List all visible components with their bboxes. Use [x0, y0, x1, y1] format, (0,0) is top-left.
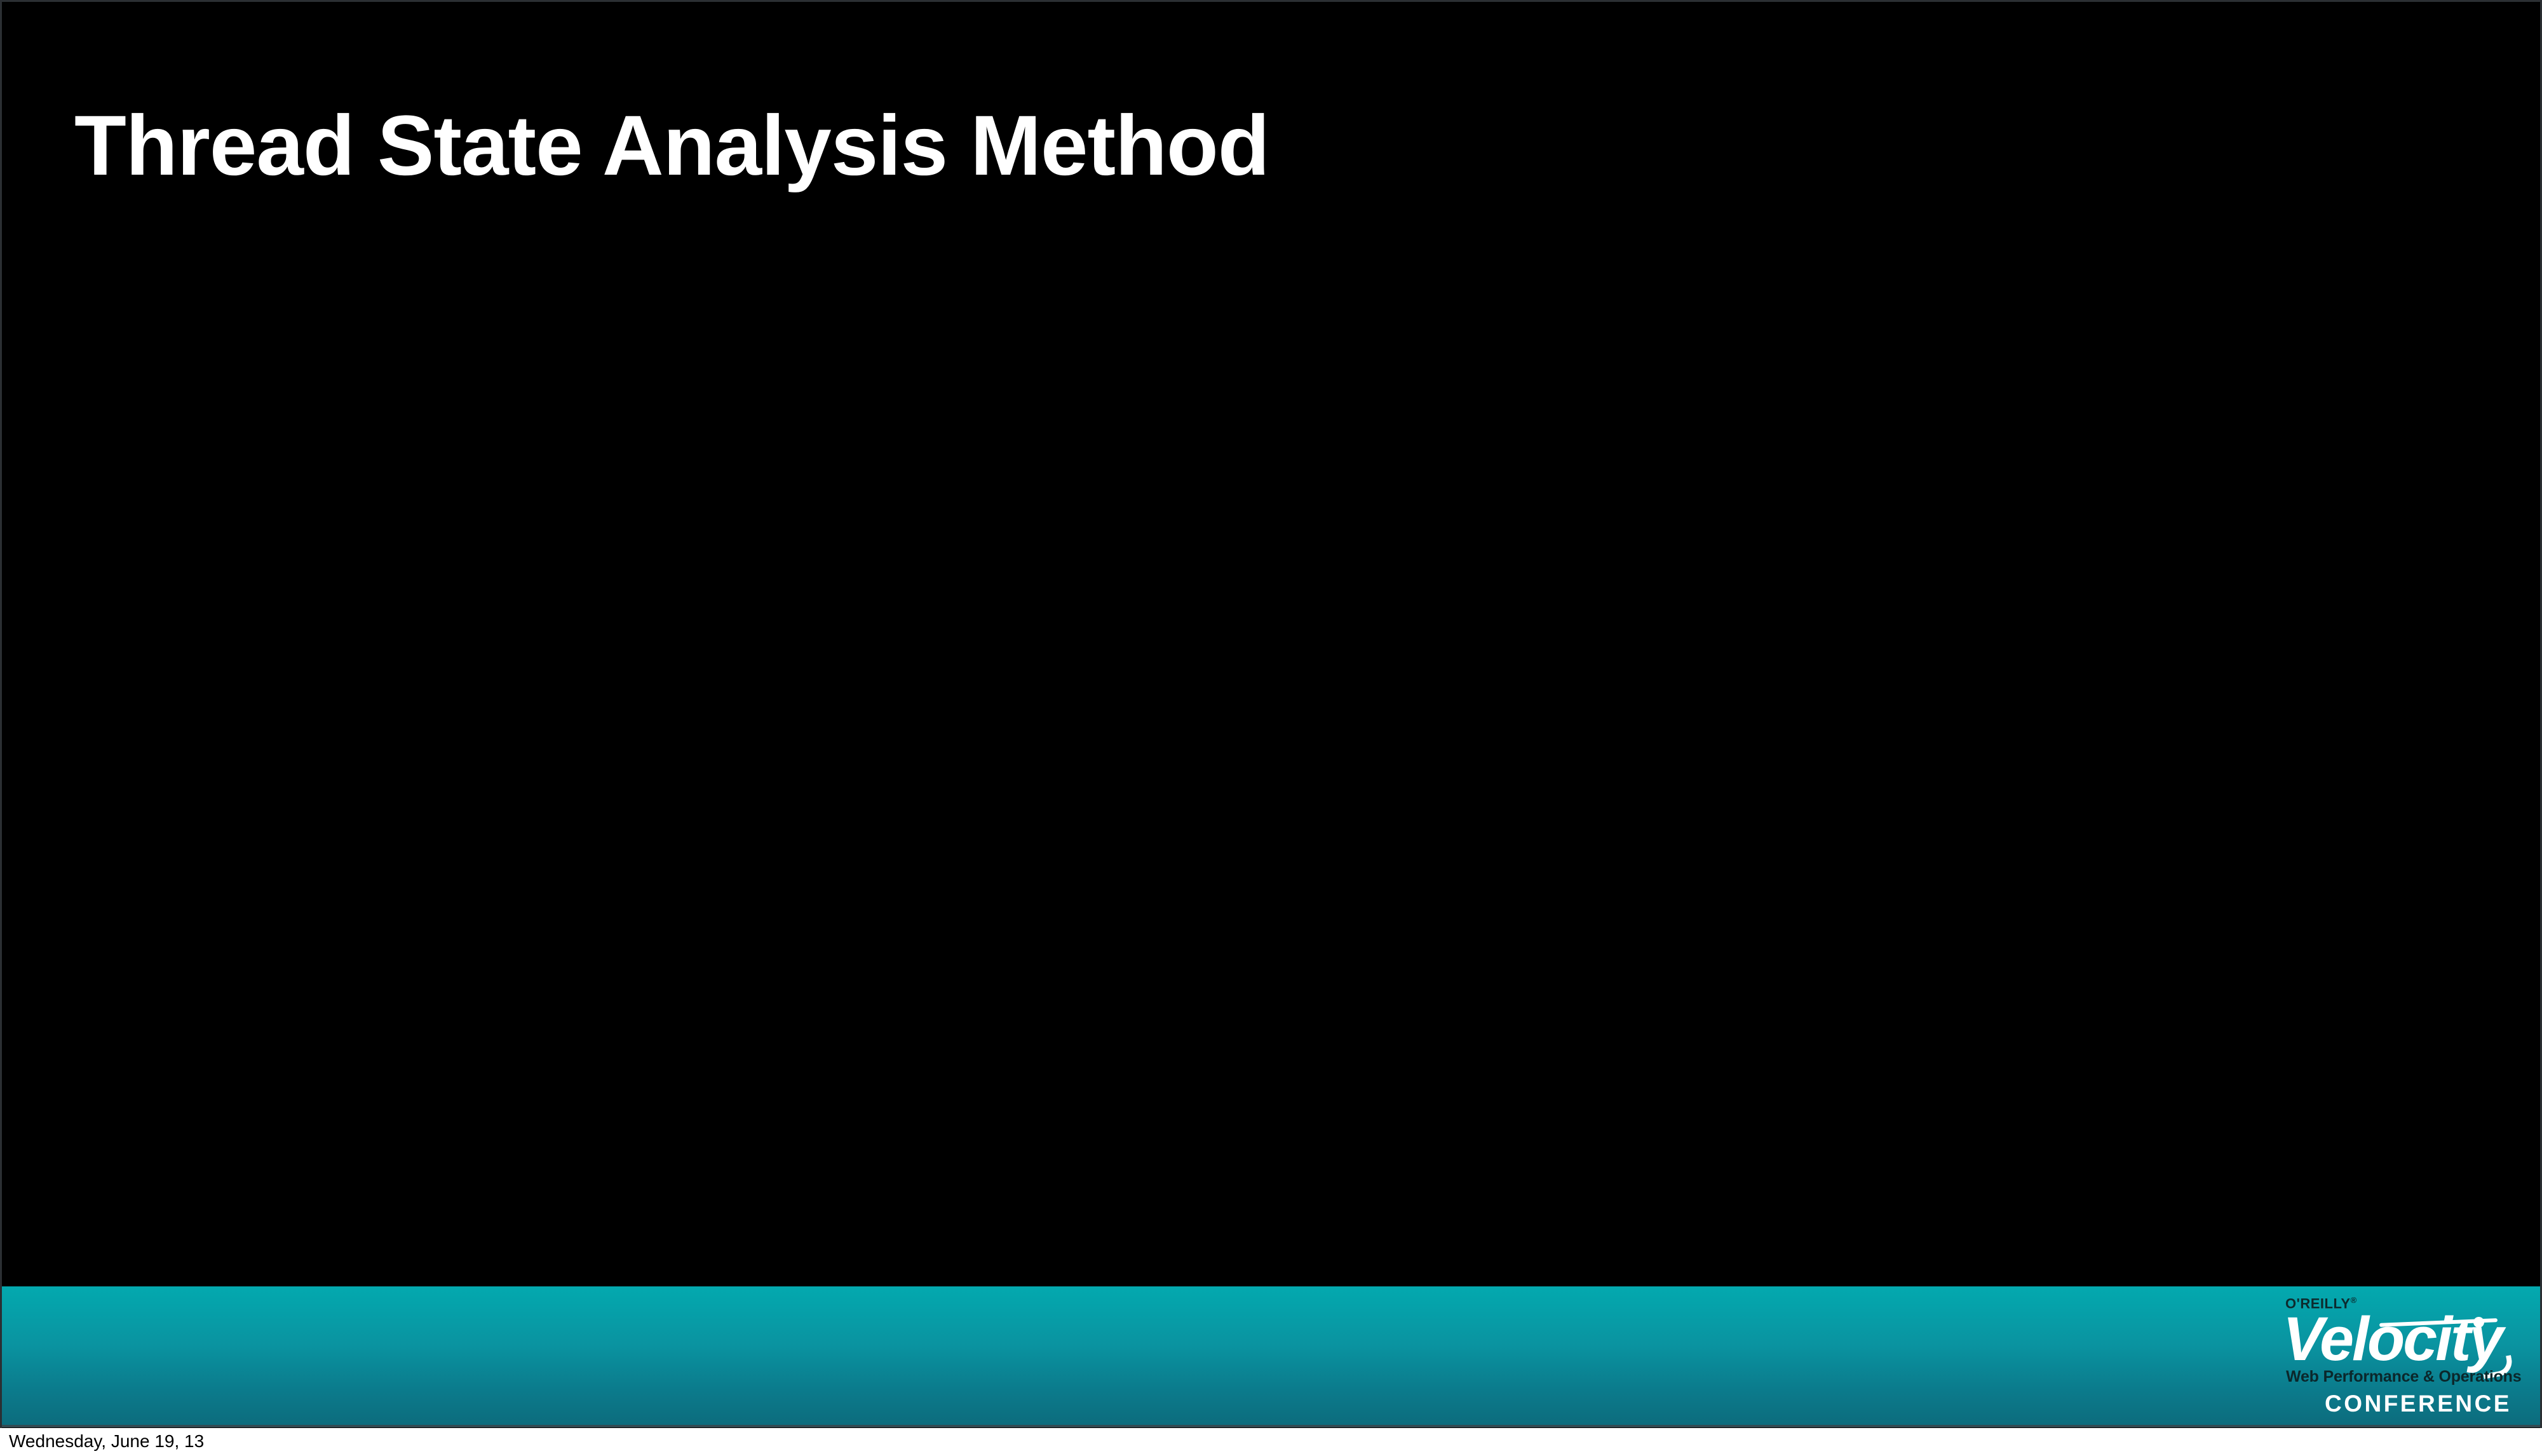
- swoosh-dot-icon: [2473, 1317, 2484, 1328]
- brand-band: O'REILLY® Velocity Web Performance & Ope…: [2, 1286, 2540, 1427]
- logo-tagline: Web Performance & Operations: [2286, 1368, 2521, 1386]
- velocity-wordmark: Velocity: [2283, 1308, 2501, 1370]
- brand-band-baseline-divider: [2, 1425, 2540, 1427]
- logo-event-type: CONFERENCE: [2325, 1391, 2512, 1417]
- slide-canvas: Thread State Analysis Method: [0, 0, 2542, 1428]
- presentation-slide: Thread State Analysis Method O'REILLY® V…: [0, 0, 2542, 1456]
- slide-content-area: [74, 186, 2463, 1266]
- page-footer: Wednesday, June 19, 13: [0, 1428, 2542, 1456]
- velocity-wordmark-group: Velocity: [2283, 1308, 2512, 1374]
- velocity-conference-logo: O'REILLY® Velocity Web Performance & Ope…: [2283, 1295, 2512, 1422]
- registered-trademark-icon: ®: [2351, 1295, 2357, 1305]
- footer-date: Wednesday, June 19, 13: [9, 1431, 204, 1452]
- slide-title: Thread State Analysis Method: [74, 96, 2362, 196]
